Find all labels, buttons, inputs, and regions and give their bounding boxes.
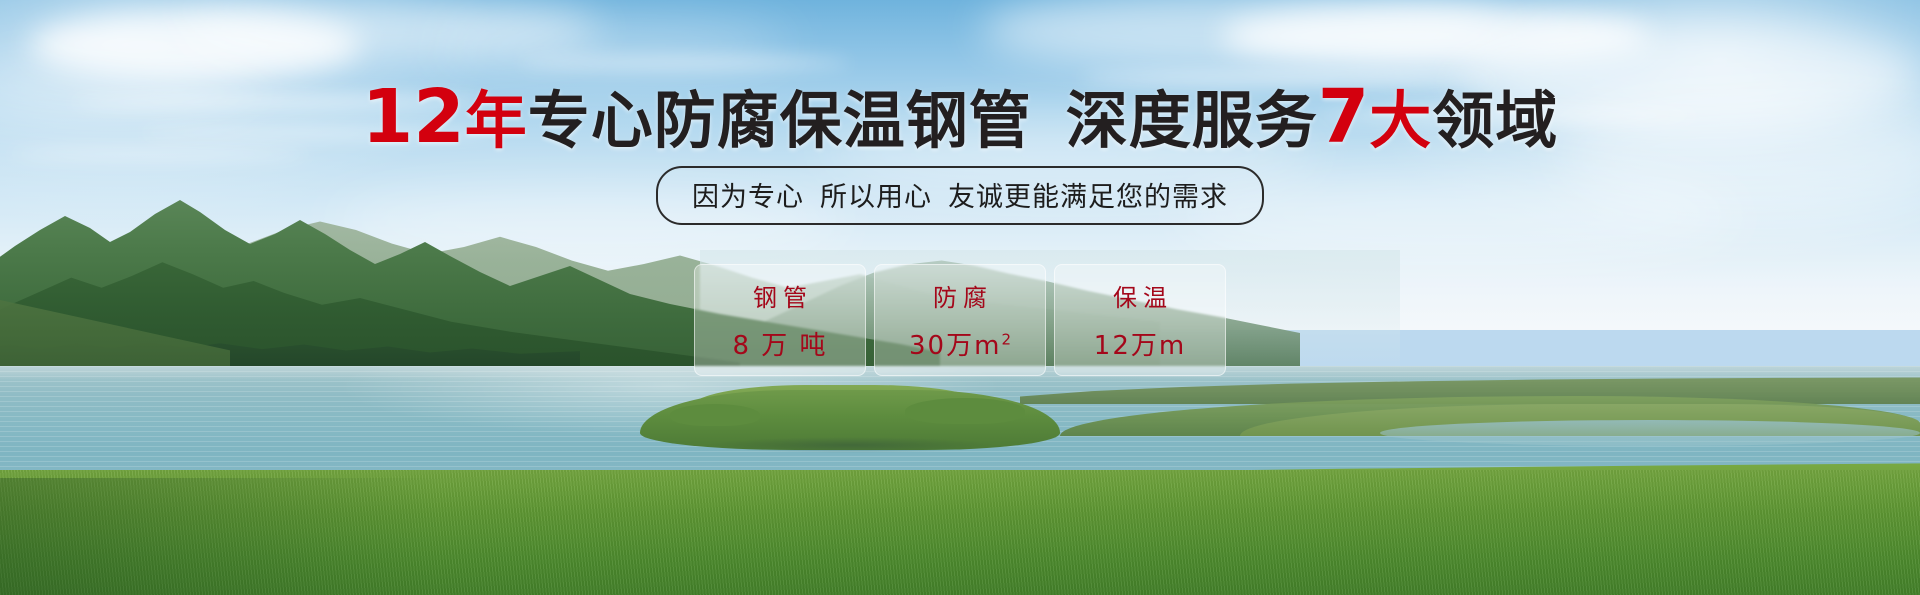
stat-card-list: 钢管 8 万 吨 防腐 30万m2 保温 12万m [0,264,1920,376]
headline-years-number: 12 [362,74,465,160]
subtitle-container: 因为专心所以用心友诚更能满足您的需求 [0,166,1920,225]
banner-subtitle: 因为专心所以用心友诚更能满足您的需求 [656,166,1264,225]
stat-card-value-text: 12万m [1094,331,1186,361]
stat-card-anticorrosion[interactable]: 防腐 30万m2 [874,264,1046,376]
island-shadow [650,434,1050,456]
headline-main-text: 专心防腐保温钢管 [528,84,1032,157]
banner-headline: 12年专心防腐保温钢管深度服务7大领域 [0,80,1920,154]
headline-service-text: 深度服务 [1066,84,1318,157]
promo-banner: 12年专心防腐保温钢管深度服务7大领域 因为专心所以用心友诚更能满足您的需求 钢… [0,0,1920,595]
headline-fields-text: 领域 [1432,84,1558,157]
stat-card-value-text: 8 万 吨 [732,331,827,361]
island-tuft [670,404,760,426]
stat-card-value-text: 30万m [909,331,1001,361]
stat-card-title: 保温 [1107,278,1173,313]
stat-card-title: 钢管 [747,278,813,313]
stat-card-value: 30万m2 [909,325,1011,362]
stat-card-steel-pipe[interactable]: 钢管 8 万 吨 [694,264,866,376]
headline-fields-number: 7 [1318,74,1370,160]
island-tuft [905,398,1025,424]
water-channel [1380,420,1920,446]
cloud-streak [520,58,850,68]
subtitle-part-3: 友诚更能满足您的需求 [948,182,1228,213]
stat-card-value: 12万m [1094,325,1186,362]
stat-card-title: 防腐 [927,278,993,313]
grass-shadow [0,478,520,595]
subtitle-part-1: 因为专心 [692,182,804,213]
stat-card-value: 8 万 吨 [732,325,827,362]
stat-card-insulation[interactable]: 保温 12万m [1054,264,1226,376]
stat-card-superscript: 2 [1001,330,1011,348]
headline-years-unit: 年 [465,84,528,157]
headline-fields-unit: 大 [1369,84,1432,157]
subtitle-part-2: 所以用心 [820,182,932,213]
